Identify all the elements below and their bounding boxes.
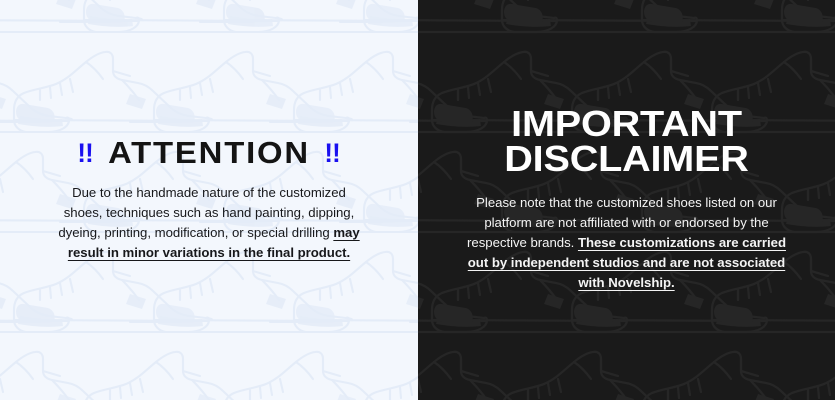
disclaimer-content: IMPORTANT DISCLAIMER Please note that th… — [418, 107, 835, 293]
attention-panel: !! ATTENTION !! Due to the handmade natu… — [0, 0, 418, 400]
attention-body-normal: Due to the handmade nature of the custom… — [58, 185, 354, 240]
double-exclamation-left-icon: !! — [78, 139, 94, 167]
disclaimer-heading-line-2: DISCLAIMER — [426, 142, 828, 177]
double-exclamation-right-icon: !! — [325, 139, 341, 167]
customization-notice-banner: !! ATTENTION !! Due to the handmade natu… — [0, 0, 835, 400]
attention-heading-text: ATTENTION — [108, 137, 310, 169]
disclaimer-heading-line-1: IMPORTANT — [426, 107, 828, 142]
disclaimer-heading: IMPORTANT DISCLAIMER — [426, 107, 828, 177]
attention-body: Due to the handmade nature of the custom… — [54, 183, 364, 263]
disclaimer-body: Please note that the customized shoes li… — [462, 193, 792, 293]
attention-heading: !! ATTENTION !! — [19, 137, 398, 169]
attention-content: !! ATTENTION !! Due to the handmade natu… — [0, 137, 418, 263]
disclaimer-panel: IMPORTANT DISCLAIMER Please note that th… — [418, 0, 835, 400]
